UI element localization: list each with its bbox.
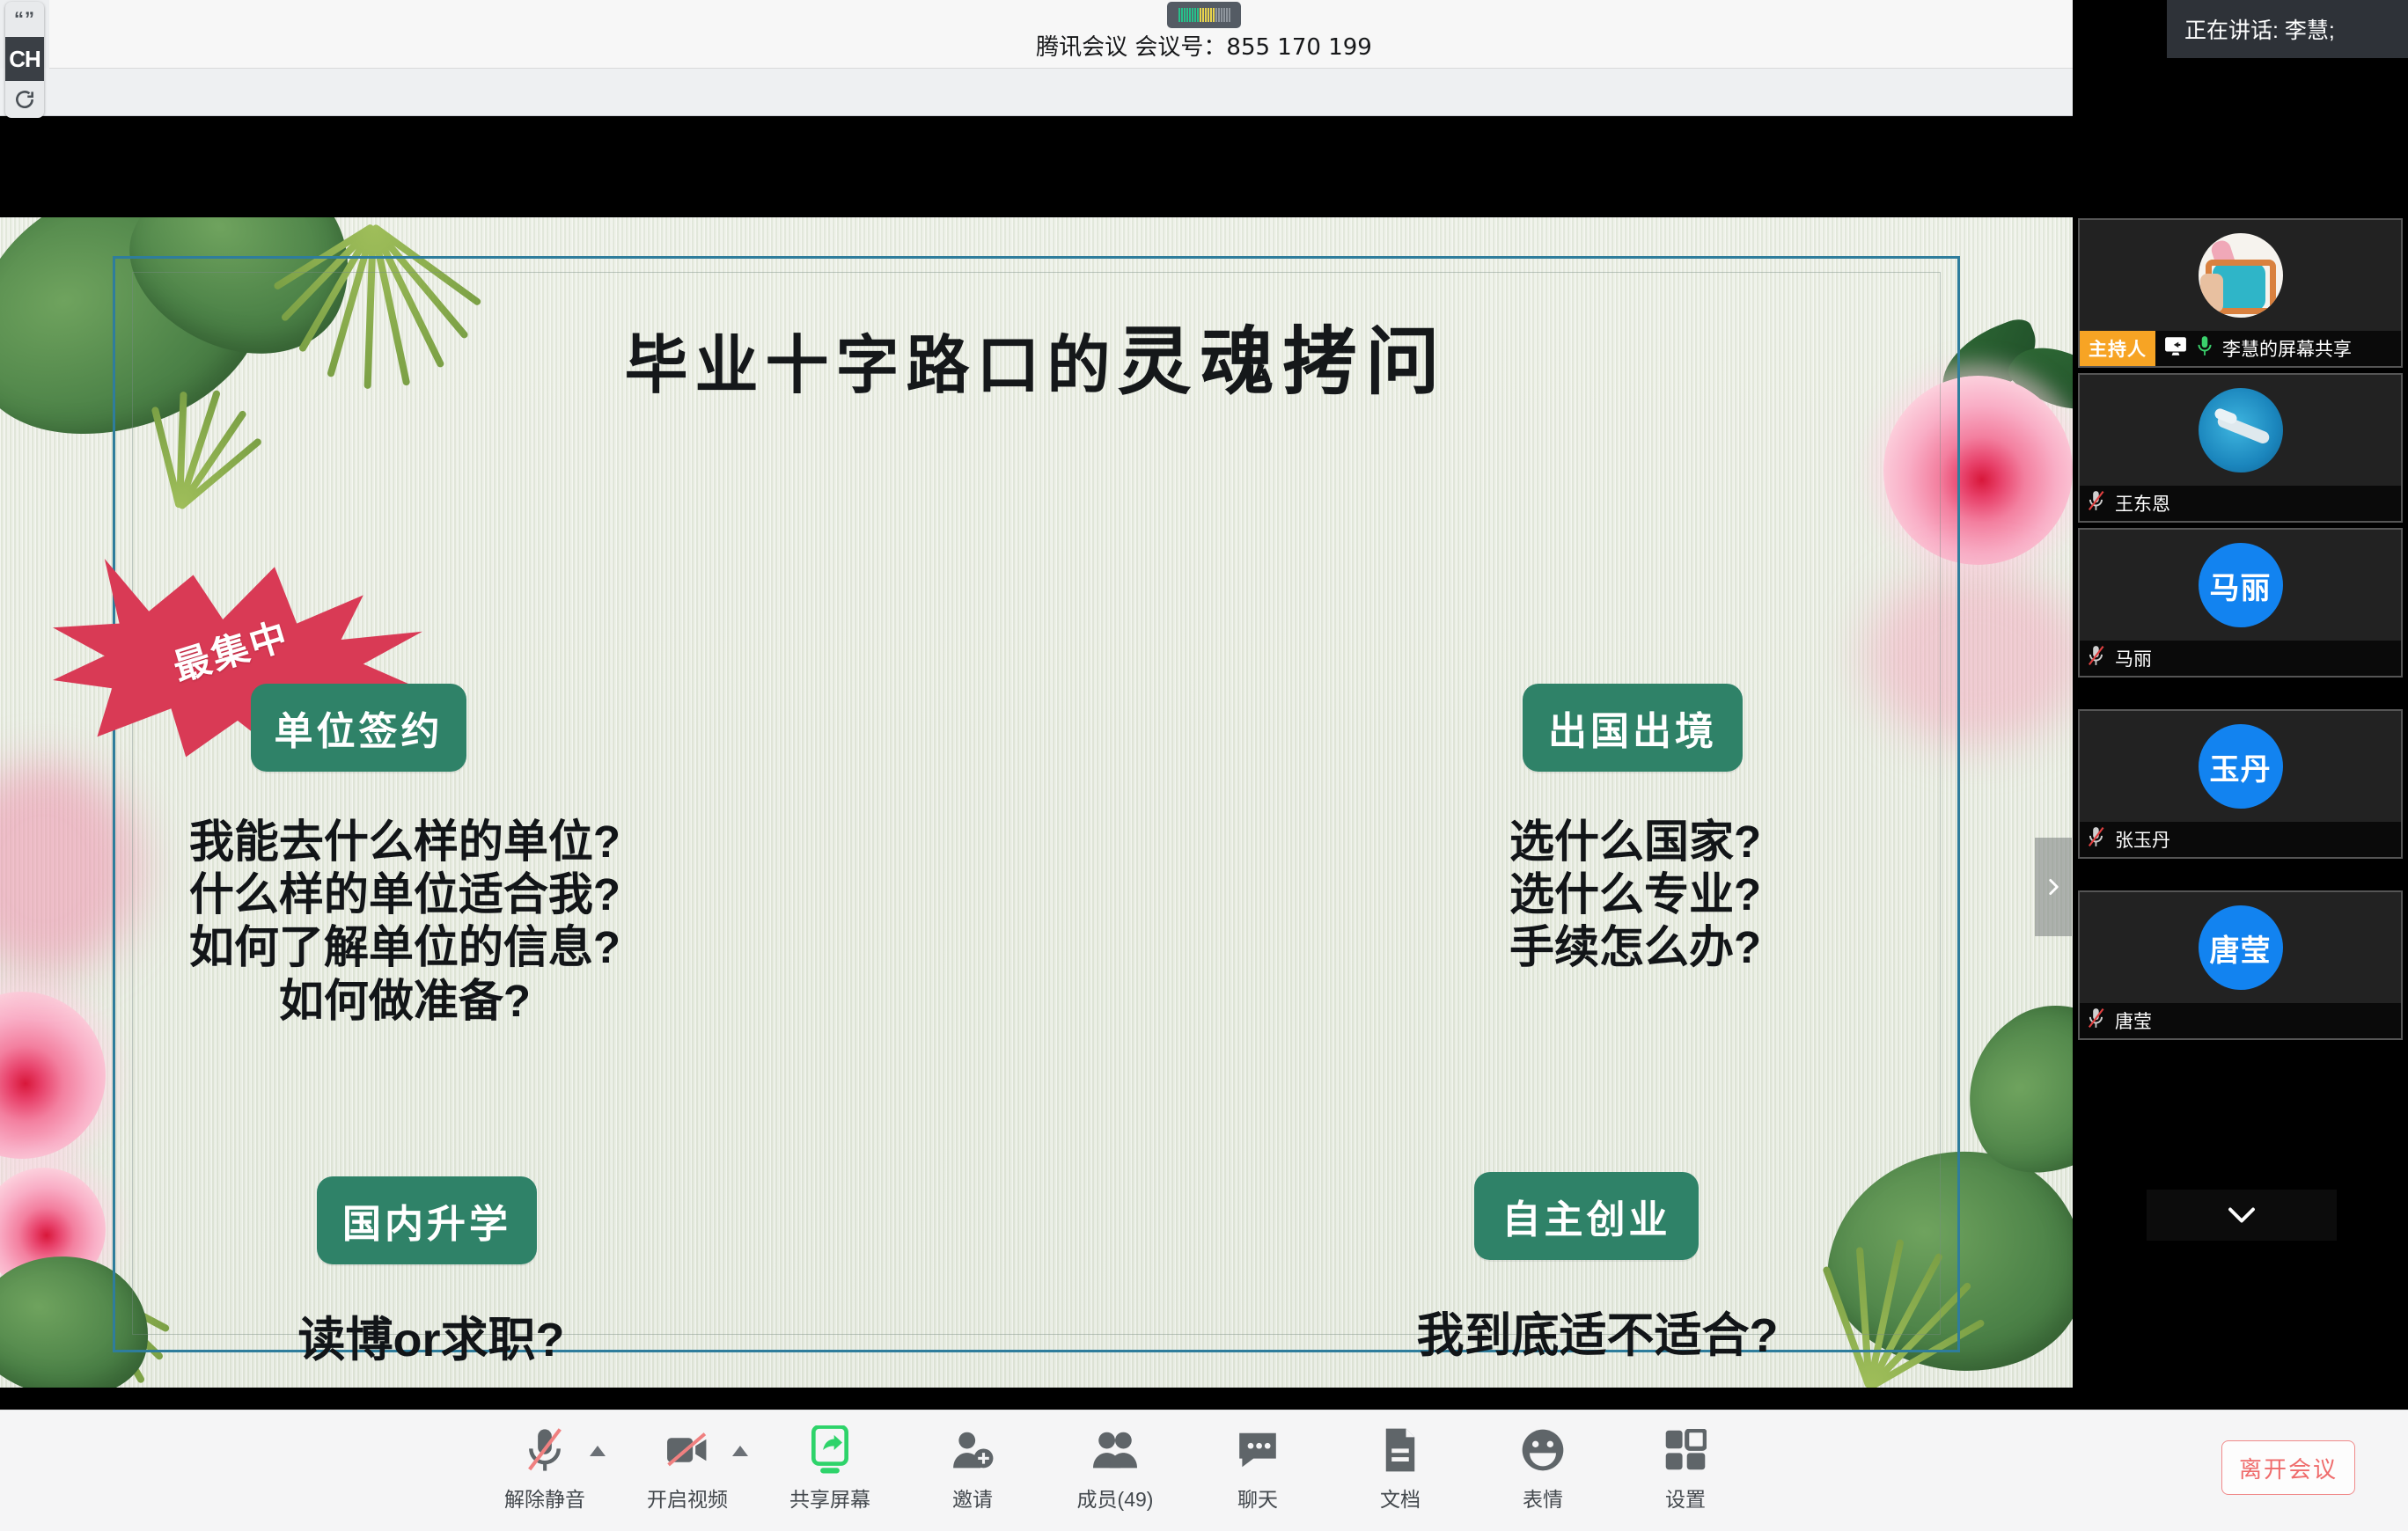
ime-quote-icon[interactable]: “” [5,2,44,37]
participant-video-area[interactable]: 唐莹 [2080,892,2401,1003]
participants-icon [1093,1423,1137,1477]
toolbar-label: 聊天 [1237,1483,1278,1513]
presentation-slide: 毕业十字路口的灵魂拷问 最集中 单位签约 我能去什么样的单位? 什么样的单位适合… [0,217,2073,1388]
screen-share-icon [2164,336,2187,361]
participant-tile[interactable]: 主持人 李慧的屏幕共享 [2078,218,2403,368]
participant-name-bar: 主持人 李慧的屏幕共享 [2080,331,2401,366]
slide-pill-unit-contract: 单位签约 [251,684,466,772]
chevron-right-icon[interactable] [2035,838,2072,936]
participant-name-bar: 唐莹 [2080,1003,2401,1038]
participant-video-area[interactable] [2080,220,2401,331]
participant-name-bar: 王东恩 [2080,486,2401,521]
avatar: 唐莹 [2199,905,2283,990]
slide-title: 毕业十字路口的灵魂拷问 [0,303,2073,409]
slide-questions-go-abroad: 选什么国家? 选什么专业? 手续怎么办? [1509,816,1985,975]
mic-muted-icon [2087,826,2106,853]
participant-tile[interactable]: 唐莹 唐莹 [2078,890,2403,1040]
screen-share-icon [811,1423,849,1477]
participant-name: 唐莹 [2115,1007,2152,1034]
toolbar-button-chat[interactable]: 聊天 [1206,1423,1310,1513]
mic-muted-icon [2087,645,2106,671]
participant-tile[interactable]: 王东恩 [2078,373,2403,523]
participant-name: 李慧的屏幕共享 [2222,335,2352,362]
camera-off-icon [664,1423,710,1477]
document-icon [1383,1423,1418,1477]
shared-screen-stage: 毕业十字路口的灵魂拷问 最集中 单位签约 我能去什么样的单位? 什么样的单位适合… [0,116,2408,1410]
meeting-info: 腾讯会议 会议号：855 170 199 [0,0,2408,69]
slide-pill-entrepreneurship: 自主创业 [1474,1172,1699,1260]
avatar [2199,388,2283,472]
toolbar-button-start-video[interactable]: 开启视频 [635,1423,739,1513]
slide-pill-go-abroad: 出国出境 [1523,684,1743,772]
toolbar-label: 邀请 [952,1483,993,1513]
participant-name-bar: 张玉丹 [2080,822,2401,857]
ime-toolbar[interactable]: “” CH [5,2,44,118]
participant-video-area[interactable]: 玉丹 [2080,711,2401,822]
audio-level-meter-icon [1167,2,1241,28]
toolbar-label: 共享屏幕 [789,1483,870,1513]
mic-on-icon [2196,335,2213,362]
chat-bubble-icon [1237,1423,1279,1477]
toolbar-button-share-screen[interactable]: 共享屏幕 [778,1423,882,1513]
participant-name: 马丽 [2115,645,2152,671]
emoji-icon [1521,1423,1565,1477]
active-speaker-banner: 正在讲话: 李慧; [2167,0,2408,58]
slide-pill-domestic-study: 国内升学 [317,1176,537,1264]
avatar: 玉丹 [2199,724,2283,809]
toolbar-button-document[interactable]: 文档 [1348,1423,1452,1513]
toolbar-label: 表情 [1523,1483,1563,1513]
toolbar-label: 解除静音 [504,1483,585,1513]
slide-title-accent: 灵魂拷问 [1118,319,1449,405]
avatar: 马丽 [2199,543,2283,627]
ime-language-indicator[interactable]: CH [5,37,44,81]
host-badge: 主持人 [2080,331,2155,366]
slide-title-main: 毕业十字路口的 [624,328,1117,402]
mic-muted-icon [525,1423,564,1477]
participant-video-area[interactable] [2080,375,2401,486]
participant-tile[interactable]: 马丽 马丽 [2078,528,2403,678]
refresh-icon[interactable] [5,81,44,118]
toolbar-button-unmute[interactable]: 解除静音 [493,1423,597,1513]
participant-tile[interactable]: 玉丹 张玉丹 [2078,709,2403,859]
toolbar-label: 开启视频 [647,1483,728,1513]
chevron-down-icon[interactable] [2147,1190,2337,1241]
toolbar-label: 设置 [1665,1483,1706,1513]
meeting-number-label: 腾讯会议 会议号：855 170 199 [1036,29,1372,62]
chevron-up-icon[interactable] [590,1446,606,1456]
toolbar-button-invite[interactable]: 邀请 [921,1423,1024,1513]
toolbar-button-emoji[interactable]: 表情 [1491,1423,1595,1513]
mic-muted-icon [2087,490,2106,516]
participant-video-area[interactable]: 马丽 [2080,530,2401,641]
toolbar-button-participants[interactable]: 成员(49) [1063,1423,1167,1513]
leave-meeting-button[interactable]: 离开会议 [2221,1440,2355,1495]
meeting-timer-bar: 01:00:34 [0,69,2408,116]
slide-questions-domestic-study: 读博or求职? [264,1313,598,1369]
chevron-up-icon[interactable] [732,1446,748,1456]
toolbar-label: 成员(49) [1077,1483,1154,1513]
toolbar-label: 文档 [1380,1483,1421,1513]
toolbar-button-settings[interactable]: 设置 [1633,1423,1737,1513]
avatar [2199,233,2283,318]
meeting-toolbar: 解除静音 开启视频 共享屏幕 [0,1410,2408,1531]
participant-name-bar: 马丽 [2080,641,2401,676]
participant-name: 王东恩 [2115,490,2170,516]
invite-user-icon [951,1423,995,1477]
participant-rail[interactable]: 主持人 李慧的屏幕共享 王东恩 马丽 [2073,0,2408,1293]
slide-questions-unit-contract: 我能去什么样的单位? 什么样的单位适合我? 如何了解单位的信息? 如何做准备? [141,816,669,1028]
mic-muted-icon [2087,1007,2106,1034]
participant-name: 张玉丹 [2115,826,2170,853]
slide-questions-entrepreneurship: 我到底适不适合? [1399,1308,1795,1365]
settings-grid-icon [1664,1423,1707,1477]
top-bar: 腾讯会议 会议号：855 170 199 正在讲话: 李慧; [0,0,2408,69]
